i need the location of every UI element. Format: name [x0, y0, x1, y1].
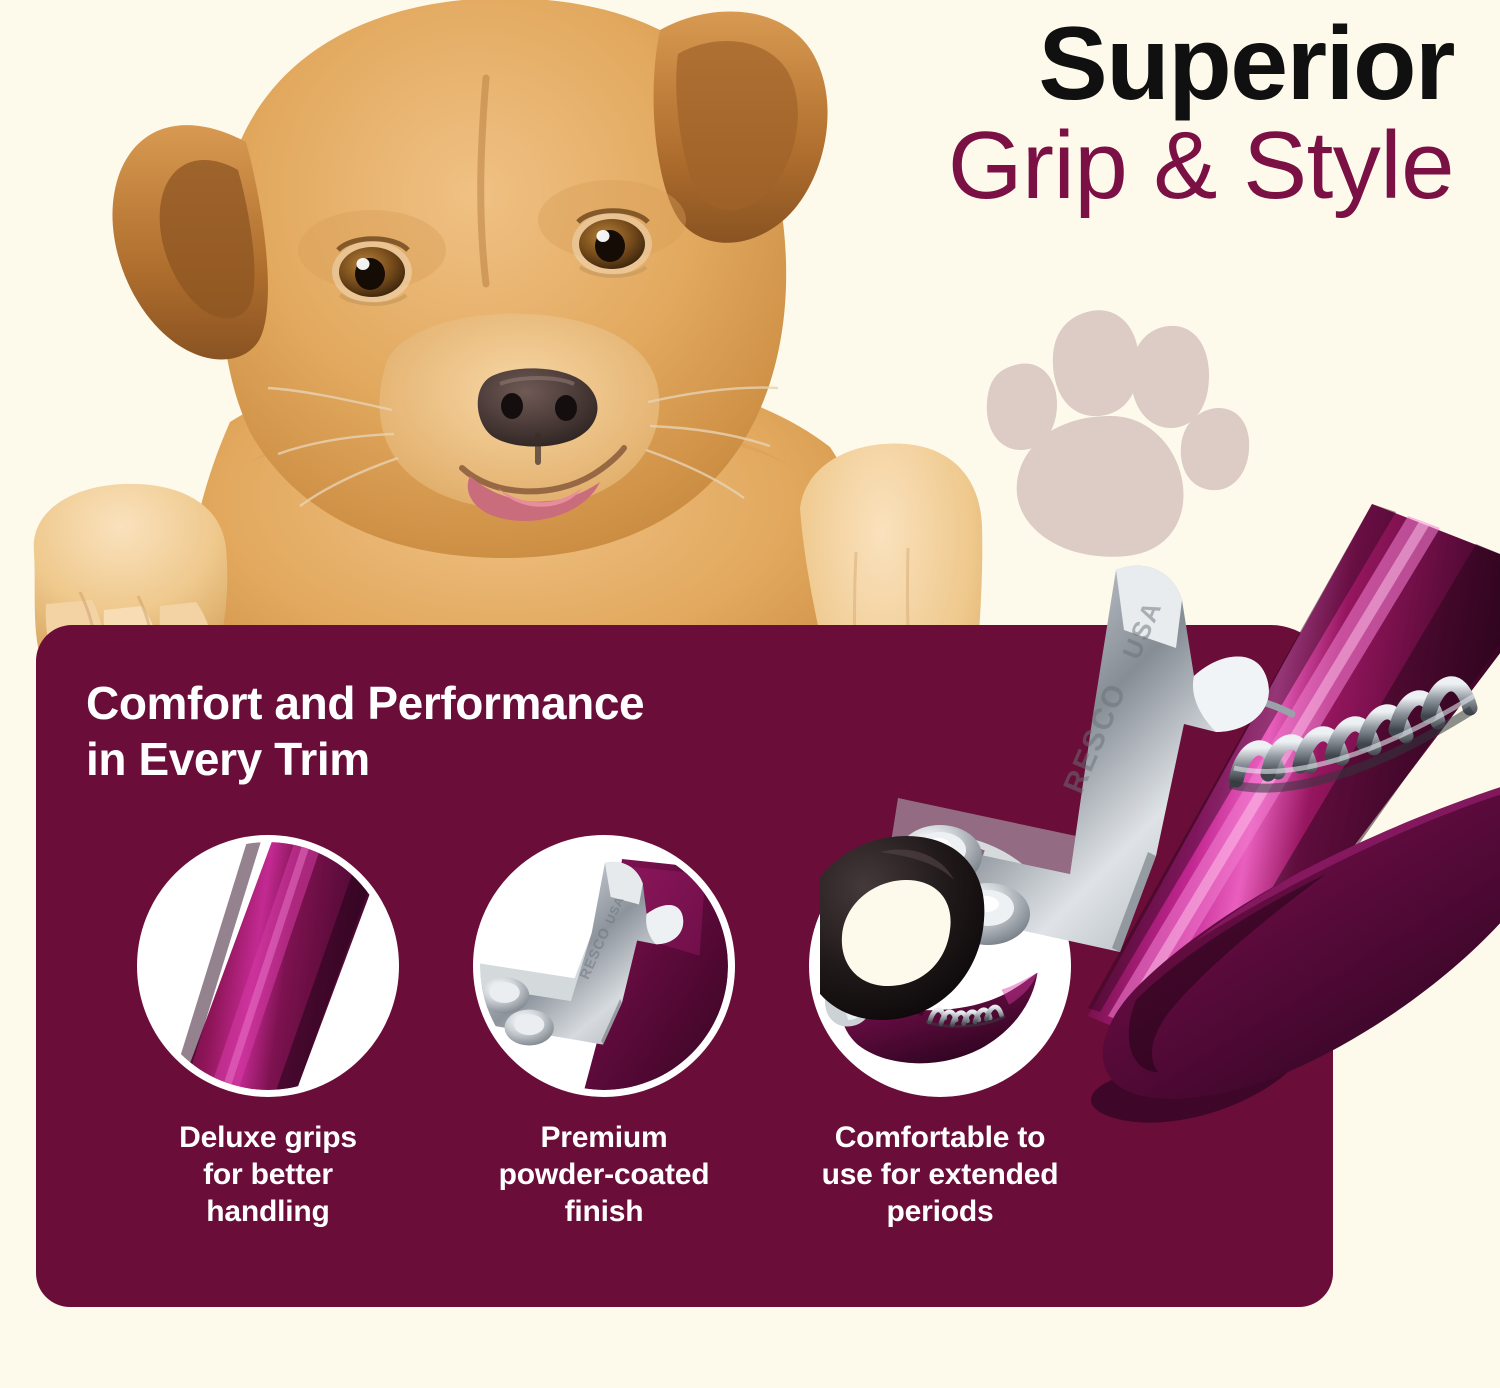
- blade-closeup-icon: RESCO USA: [473, 835, 735, 1097]
- card-heading: Comfort and Performance in Every Trim: [86, 675, 644, 787]
- caption-line2: for better: [179, 1156, 357, 1193]
- headline-line1: Superior: [948, 8, 1454, 120]
- handle-closeup-icon: [137, 835, 399, 1097]
- caption-line1: Deluxe grips: [179, 1119, 357, 1156]
- caption-line2: powder-coated: [499, 1156, 710, 1193]
- nail-clipper-photo: RESCO USA: [820, 500, 1500, 1388]
- feature-caption-finish: Premium powder-coated finish: [499, 1119, 710, 1231]
- card-heading-line2: in Every Trim: [86, 731, 644, 787]
- product-marketing-image: Superior Grip & Style Comfort and Perfor…: [0, 0, 1500, 1388]
- caption-line3: handling: [179, 1193, 357, 1230]
- headline-line2: Grip & Style: [948, 114, 1454, 218]
- caption-line3: finish: [499, 1193, 710, 1230]
- feature-item-finish: RESCO USA Premium powder-coated finish: [454, 835, 754, 1231]
- feature-item-grips: Deluxe grips for better handling: [118, 835, 418, 1231]
- headline-block: Superior Grip & Style: [948, 8, 1454, 218]
- feature-caption-grips: Deluxe grips for better handling: [179, 1119, 357, 1231]
- caption-line1: Premium: [499, 1119, 710, 1156]
- card-heading-line1: Comfort and Performance: [86, 675, 644, 731]
